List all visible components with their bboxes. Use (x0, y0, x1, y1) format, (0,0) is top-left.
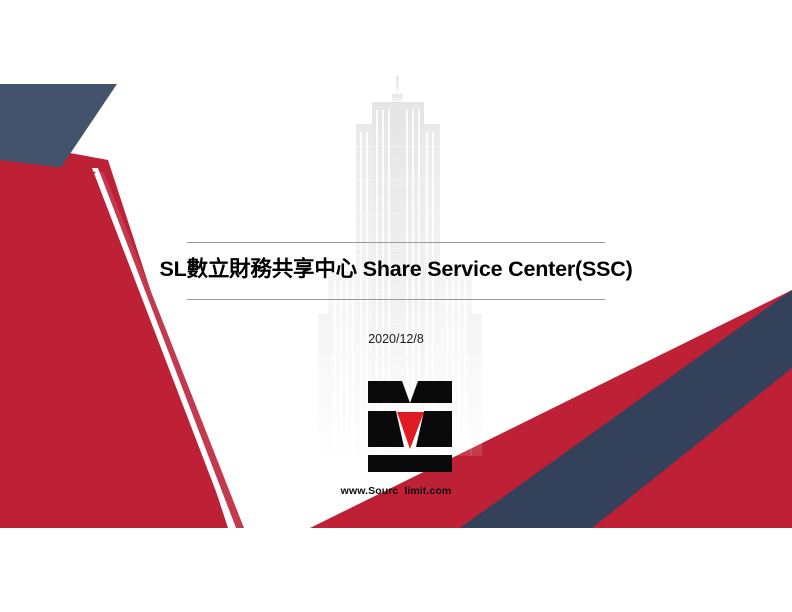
logo-url: www.Sourcelimit.com (0, 485, 792, 497)
page-title: SL數立財務共享中心 Share Service Center(SSC) (0, 243, 792, 299)
logo-top-left-slab (368, 381, 410, 403)
logo-url-suffix: limit.com (404, 485, 451, 497)
logo-top-right-slab (410, 381, 452, 403)
slide-date: 2020/12/8 (0, 332, 792, 346)
slide-canvas: SL數立財務共享中心 Share Service Center(SSC) 202… (0, 0, 792, 612)
title-block: SL數立財務共享中心 Share Service Center(SSC) (0, 242, 792, 300)
sourcelimit-logo (366, 379, 454, 474)
logo-bottom-bar (368, 455, 452, 472)
logo-url-prefix: www.Sourc (341, 485, 399, 497)
left-wedge-gap (92, 168, 236, 528)
title-rule-bottom (187, 299, 605, 300)
top-left-navy-triangle (0, 84, 117, 258)
left-thin-red-line (96, 172, 244, 528)
